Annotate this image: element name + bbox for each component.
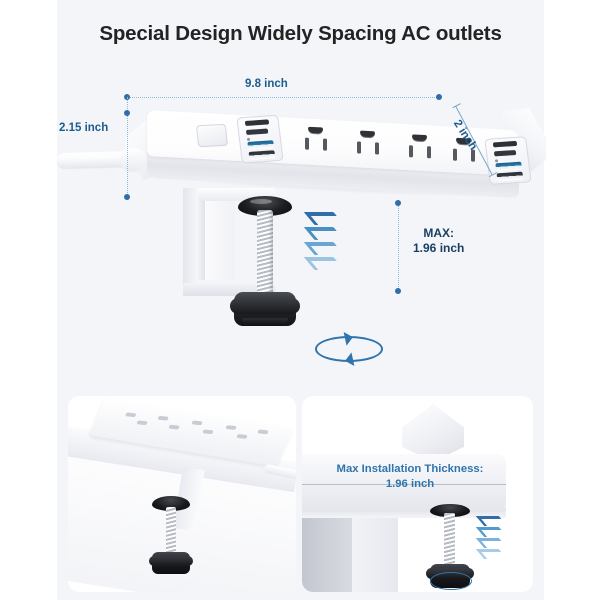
cord-collar bbox=[120, 148, 146, 172]
threaded-screw bbox=[166, 507, 176, 557]
dimension-endpoint-dot bbox=[395, 200, 401, 206]
adjust-up-chevrons-icon bbox=[480, 516, 504, 560]
clamp-spine bbox=[183, 188, 198, 296]
desk-mounted-view-card bbox=[68, 396, 296, 592]
dimension-endpoint-dot bbox=[395, 288, 401, 294]
desk-leg-dark bbox=[302, 518, 352, 592]
usb-port-group-right bbox=[484, 136, 531, 185]
max-thickness-view-card: Max Installation Thickness: 1.96 inch bbox=[302, 396, 533, 592]
ac-outlet-icon bbox=[399, 133, 443, 161]
led-indicator-icon bbox=[495, 159, 498, 162]
infographic-root: Special Design Widely Spacing AC outlets bbox=[0, 0, 600, 600]
max-thickness-label: MAX: 1.96 inch bbox=[413, 226, 464, 257]
threaded-screw bbox=[444, 513, 455, 569]
threaded-screw bbox=[257, 210, 273, 302]
length-dimension-line bbox=[127, 97, 439, 98]
rotate-knob-arrow-icon bbox=[430, 572, 472, 590]
usb-c-port-icon bbox=[246, 129, 268, 135]
ac-outlet-icon bbox=[347, 129, 391, 157]
height-dimension-label: 2.15 inch bbox=[59, 122, 108, 134]
clamp-screw-assembly bbox=[232, 196, 298, 326]
rotate-knob-arrow-icon bbox=[315, 336, 383, 362]
ac-outlet-icon bbox=[295, 125, 339, 153]
usb-a-port-icon bbox=[497, 172, 524, 182]
mounted-screw-assembly bbox=[148, 496, 194, 574]
usb-a-port-icon bbox=[495, 162, 522, 172]
usb-port-group-left bbox=[236, 115, 283, 164]
dimension-endpoint-dot bbox=[124, 194, 130, 200]
desk-leg-light bbox=[352, 518, 398, 592]
usb-c-port-icon bbox=[245, 119, 269, 126]
page-title: Special Design Widely Spacing AC outlets bbox=[57, 22, 544, 46]
max-thickness-dimension-line bbox=[398, 203, 399, 291]
max-installation-thickness-label: Max Installation Thickness: 1.96 inch bbox=[322, 462, 498, 493]
tightening-knob[interactable] bbox=[234, 292, 296, 326]
power-strip-dimensions-diagram: 9.8 inch 2.15 inch 2 inch MAX: 1.96 inch bbox=[57, 60, 544, 380]
dimension-endpoint-dot bbox=[436, 94, 442, 100]
dimension-endpoint-dot bbox=[124, 110, 130, 116]
usb-c-port-icon bbox=[493, 141, 517, 148]
usb-a-port-icon bbox=[247, 140, 274, 150]
length-dimension-label: 9.8 inch bbox=[245, 78, 288, 90]
usb-c-port-icon bbox=[494, 150, 516, 156]
power-switch-icon[interactable] bbox=[196, 124, 228, 148]
adjust-up-chevrons-icon bbox=[309, 212, 339, 270]
led-indicator-icon bbox=[247, 138, 250, 141]
usb-a-port-icon bbox=[249, 150, 276, 160]
tightening-knob[interactable] bbox=[152, 552, 190, 574]
